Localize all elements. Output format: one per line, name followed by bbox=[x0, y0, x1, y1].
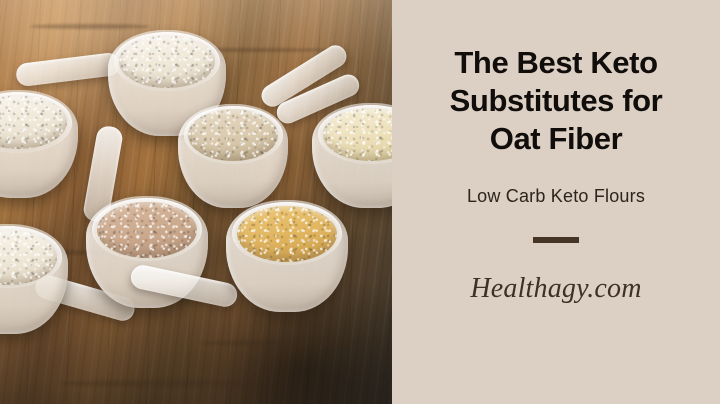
graphic-canvas: The Best Keto Substitutes for Oat Fiber … bbox=[0, 0, 720, 404]
title-line-1: The Best Keto bbox=[406, 44, 706, 82]
text-panel: The Best Keto Substitutes for Oat Fiber … bbox=[392, 0, 720, 404]
scoop-white-speckled-left bbox=[0, 90, 78, 198]
scoop-pale-yellow-right bbox=[312, 103, 392, 208]
scoop-white-bottom-left bbox=[0, 224, 68, 334]
scoop-powder bbox=[119, 35, 216, 88]
scoop-powder bbox=[237, 206, 337, 262]
wood-grain-mark bbox=[30, 24, 150, 29]
wood-grain-mark bbox=[200, 340, 380, 346]
brand-name: Healthagy.com bbox=[470, 243, 641, 305]
wood-grain-mark bbox=[60, 380, 260, 387]
title-line-2: Substitutes for bbox=[406, 82, 706, 120]
keto-flours-photo bbox=[0, 0, 392, 404]
page-subtitle: Low Carb Keto Flours bbox=[467, 157, 645, 207]
scoop-golden-bottom-center bbox=[226, 200, 348, 312]
page-title: The Best Keto Substitutes for Oat Fiber bbox=[406, 0, 706, 157]
scoop-powder bbox=[97, 202, 197, 258]
title-line-3: Oat Fiber bbox=[406, 120, 706, 158]
scoop-oat-coarse-center bbox=[178, 104, 288, 208]
scoop-powder bbox=[188, 109, 278, 161]
